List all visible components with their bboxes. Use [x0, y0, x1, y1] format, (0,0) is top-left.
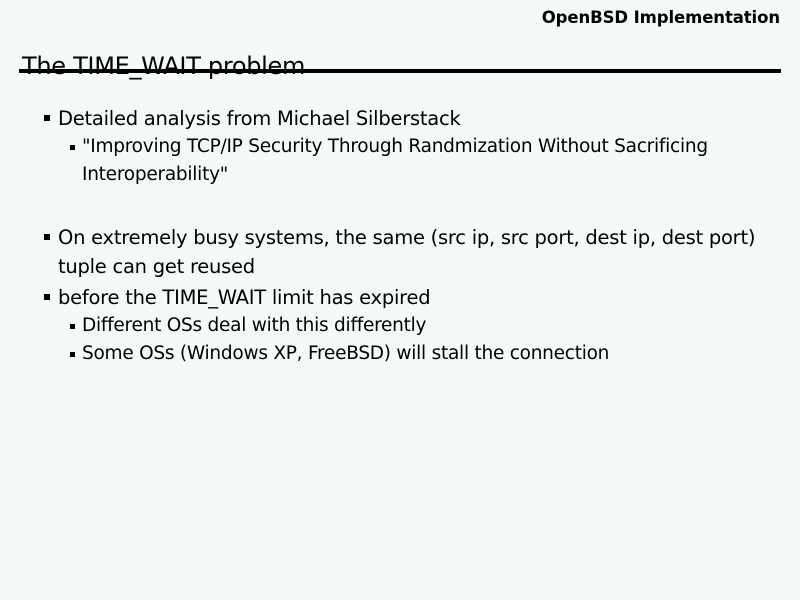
slide-header-label: OpenBSD Implementation	[542, 8, 780, 27]
square-bullet-icon	[44, 234, 50, 240]
square-bullet-small-icon	[70, 145, 75, 150]
list-item: Different OSs deal with this differently	[0, 312, 782, 340]
list-item: "Improving TCP/IP Security Through Randm…	[0, 133, 782, 189]
square-bullet-small-icon	[70, 352, 75, 357]
list-item: Detailed analysis from Michael Silbersta…	[0, 104, 758, 133]
list-item-label: Detailed analysis from Michael Silbersta…	[58, 107, 461, 130]
slide-body: Detailed analysis from Michael Silbersta…	[0, 104, 800, 368]
square-bullet-icon	[44, 115, 50, 121]
list-item: On extremely busy systems, the same (src…	[0, 223, 758, 281]
list-item-label: before the TIME_WAIT limit has expired	[58, 286, 430, 309]
square-bullet-small-icon	[70, 324, 75, 329]
list-item: before the TIME_WAIT limit has expired	[0, 283, 758, 312]
list-item-label: "Improving TCP/IP Security Through Randm…	[82, 136, 708, 185]
list-item-label: On extremely busy systems, the same (src…	[58, 226, 755, 278]
list-item-label: Different OSs deal with this differently	[82, 315, 426, 336]
square-bullet-icon	[44, 294, 50, 300]
page-title: The TIME_WAIT problem	[22, 54, 305, 78]
title-divider	[19, 69, 781, 73]
presentation-slide: OpenBSD Implementation The TIME_WAIT pro…	[0, 0, 800, 600]
list-item: Some OSs (Windows XP, FreeBSD) will stal…	[0, 340, 782, 368]
list-item-label: Some OSs (Windows XP, FreeBSD) will stal…	[82, 343, 609, 364]
section-spacer	[0, 189, 800, 223]
